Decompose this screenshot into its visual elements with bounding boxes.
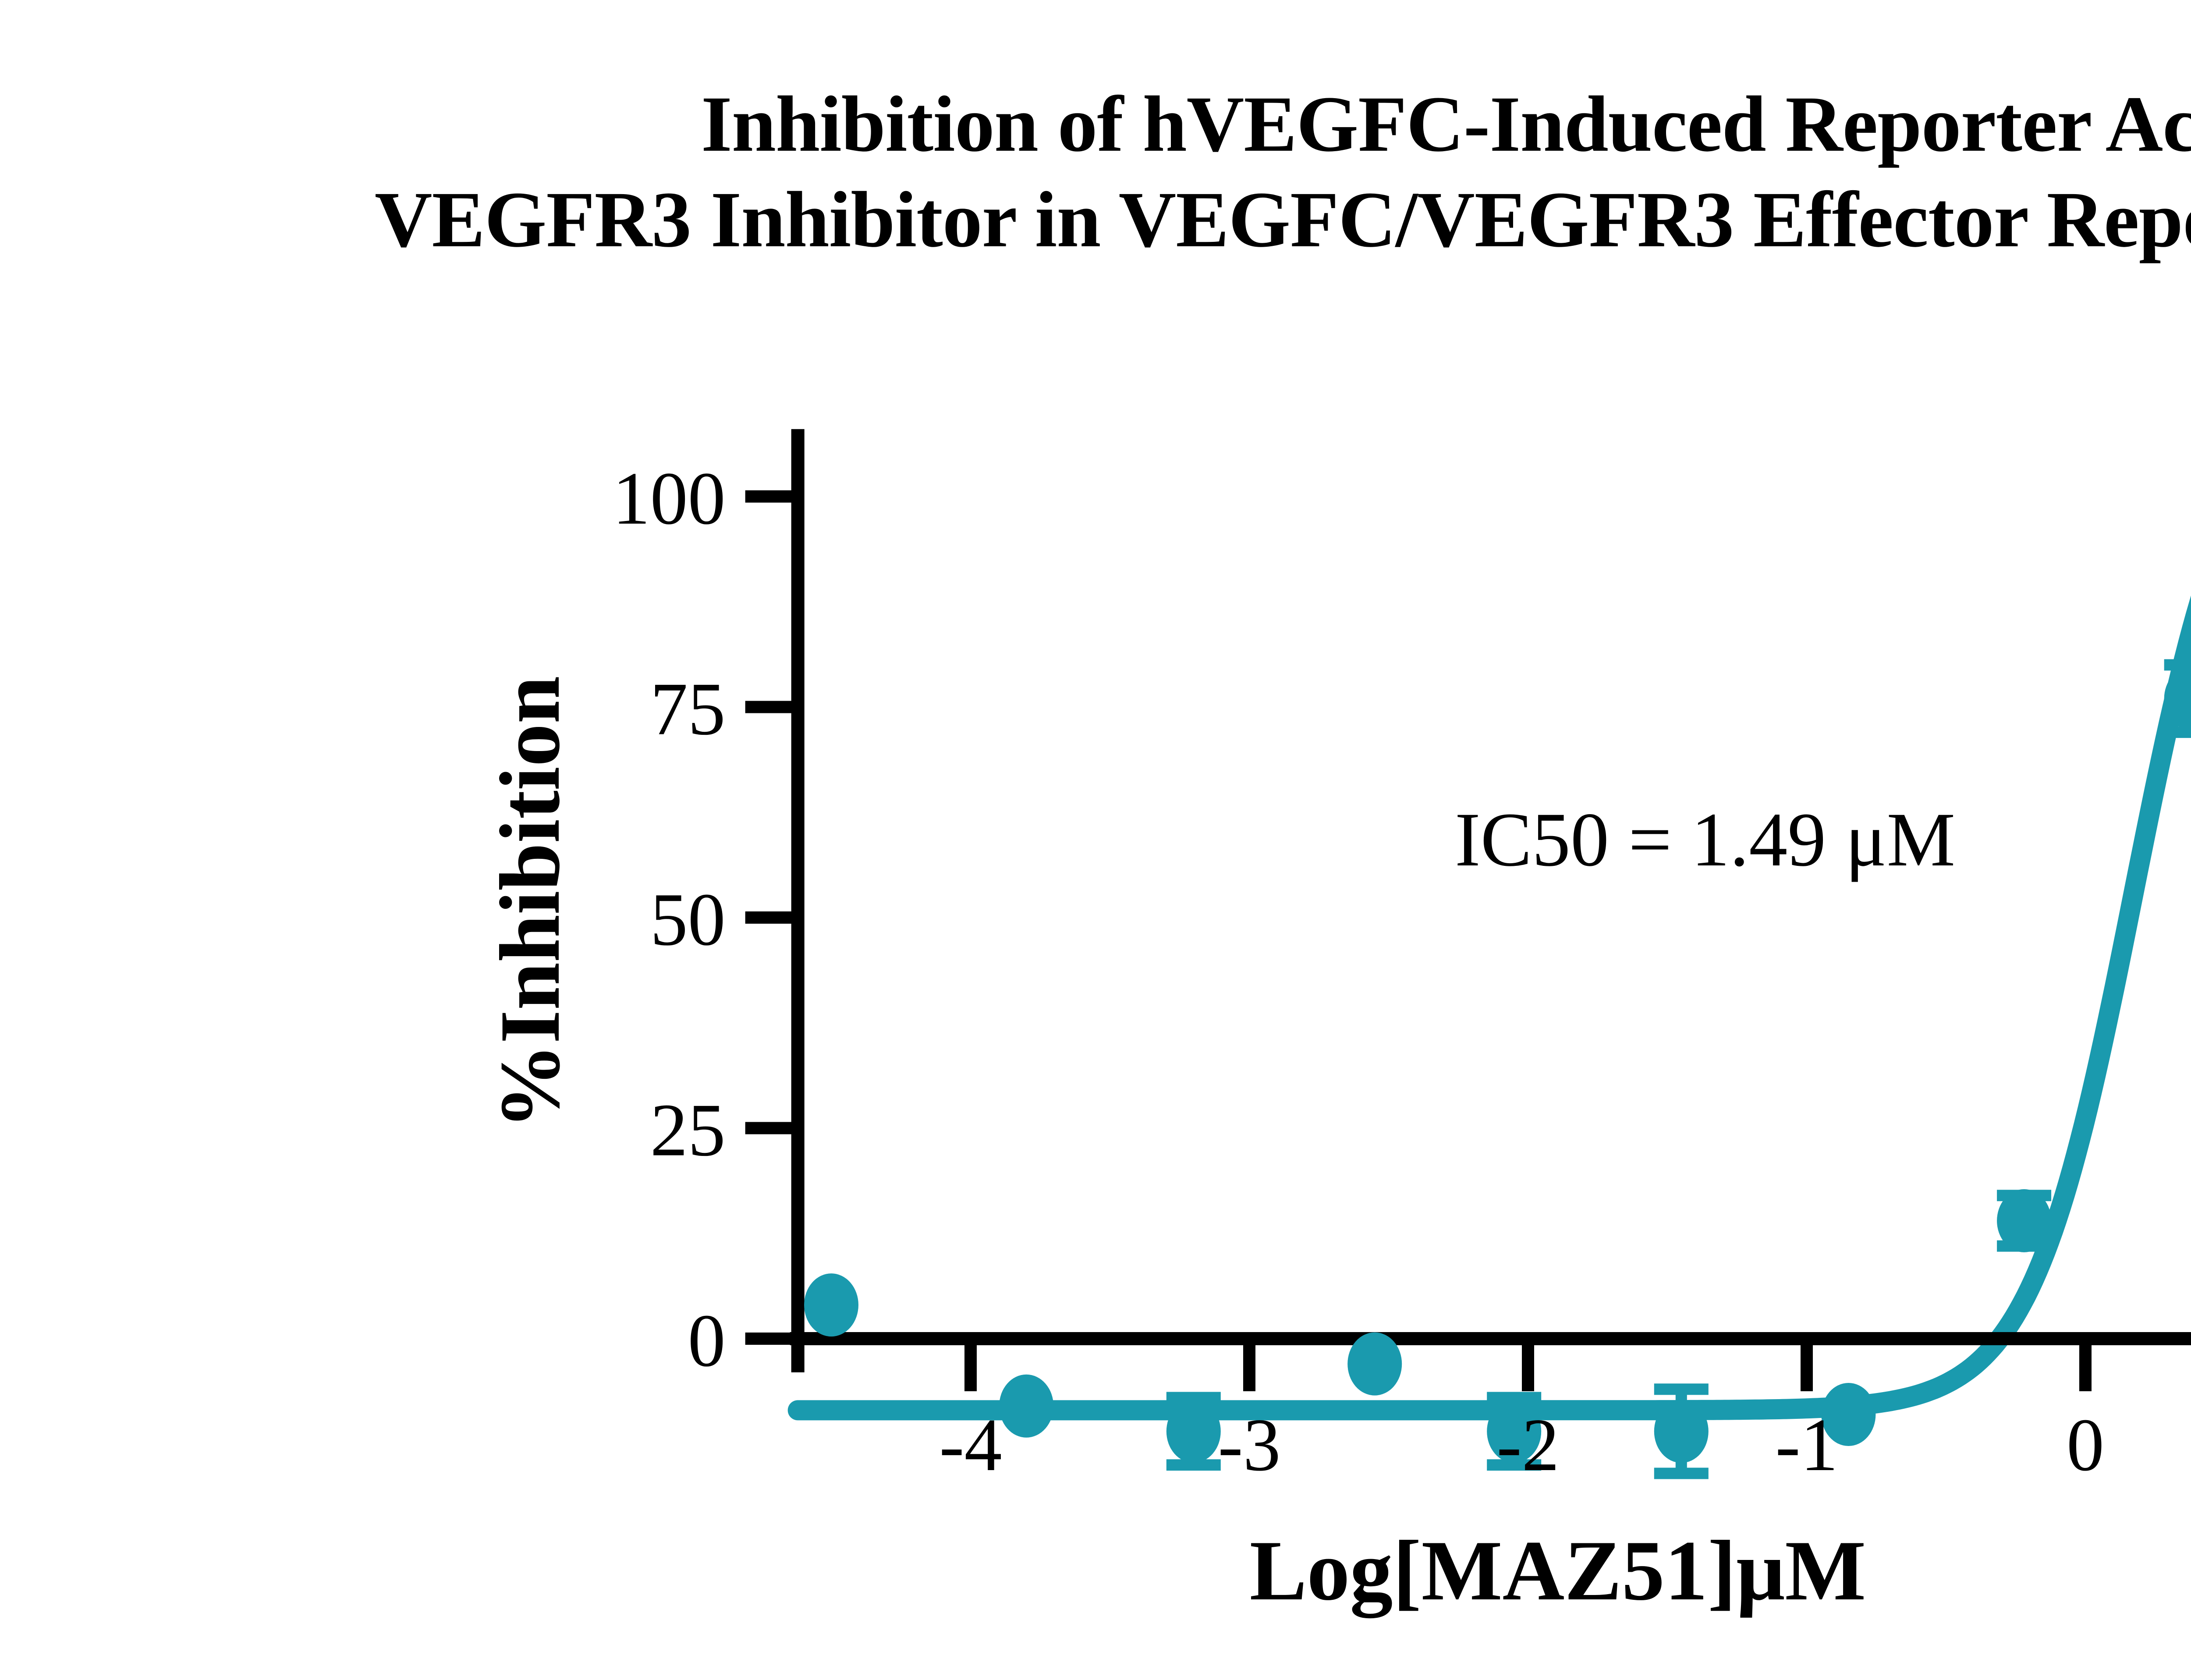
y-tick-label: 25	[650, 1089, 726, 1172]
fit-curve-path	[798, 383, 2191, 1411]
x-tick-label: -3	[1218, 1404, 1280, 1487]
y-tick-label: 75	[650, 668, 726, 751]
y-axis-title: %Inhibition	[482, 676, 578, 1130]
data-point-marker	[999, 1375, 1053, 1438]
y-tick-labels: 0255075100	[613, 457, 726, 1382]
x-tick-label: -4	[939, 1404, 1002, 1487]
data-point-marker	[1166, 1400, 1221, 1463]
x-axis-ticks	[971, 1339, 2191, 1391]
x-tick-label: -2	[1496, 1404, 1559, 1487]
ic50-annotation: IC50 = 1.49 μM	[1455, 797, 1955, 883]
data-point-marker	[1997, 1189, 2051, 1252]
data-point-marker	[1654, 1400, 1709, 1463]
fit-curve-group	[798, 383, 2191, 1411]
error-bars-group	[1166, 665, 2191, 1473]
data-point-marker	[804, 1273, 858, 1336]
x-tick-label: 0	[2067, 1404, 2104, 1487]
x-tick-label: -1	[1775, 1404, 1838, 1487]
y-axis-ticks	[745, 496, 798, 1339]
data-markers-group	[804, 381, 2191, 1463]
plot-area: 0255075100 -4-3-2-101 %Inhibition Log[MA…	[0, 0, 2191, 1680]
y-tick-label: 50	[650, 878, 726, 961]
figure-canvas: Inhibition of hVEGFC-Induced Reporter Ac…	[0, 0, 2191, 1680]
x-axis-title: Log[MAZ51]μM	[1250, 1523, 1866, 1618]
data-point-marker	[1347, 1333, 1402, 1396]
y-tick-label: 100	[613, 457, 726, 540]
y-tick-label: 0	[688, 1299, 726, 1382]
axis-lines	[790, 429, 2191, 1372]
